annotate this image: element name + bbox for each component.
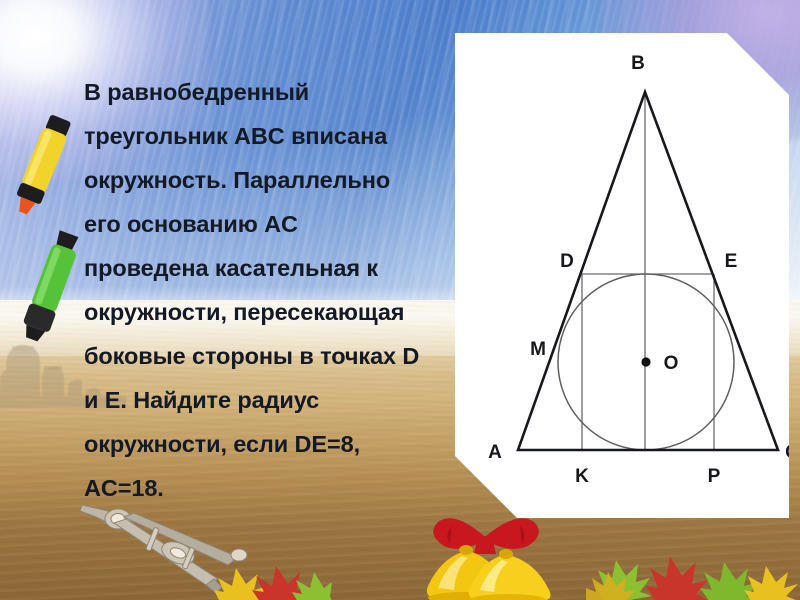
problem-text-block: В равнобедренный треугольник ABC вписана… [84,70,464,510]
problem-line-3: окружность. Параллельно [84,158,464,202]
problem-line-4: его основанию AC [84,202,464,246]
triangle-abc [518,92,778,450]
label-b: B [631,53,645,74]
label-a: A [488,442,502,463]
label-p: P [708,466,721,487]
label-m: M [530,339,546,360]
geometry-diagram: B A C D E M O K P [455,33,789,518]
bells-icon [400,506,570,600]
center-point-o [641,357,650,366]
slide-canvas: В равнобедренный треугольник ABC вписана… [0,0,800,600]
problem-line-8: и E. Найдите радиус [84,378,464,422]
problem-line-6: окружности, пересекающая [84,290,464,334]
maple-leaves-right-icon [586,534,800,600]
label-e: E [725,251,738,272]
label-d: D [560,251,574,272]
label-c: C [785,442,789,463]
problem-line-5: проведена касательная к [84,246,464,290]
marker-yellow-icon [4,108,76,228]
label-k: K [575,466,589,487]
problem-line-7: боковые стороны в точках D [84,334,464,378]
label-o: O [664,353,679,374]
marker-green-icon [10,222,88,350]
construction-lines [582,92,714,450]
problem-line-1: В равнобедренный [84,70,464,114]
problem-line-2: треугольник ABC вписана [84,114,464,158]
figure-card: B A C D E M O K P [455,33,789,518]
maple-leaves-left-icon [212,548,332,600]
problem-line-9: окружности, если DE=8, [84,422,464,466]
